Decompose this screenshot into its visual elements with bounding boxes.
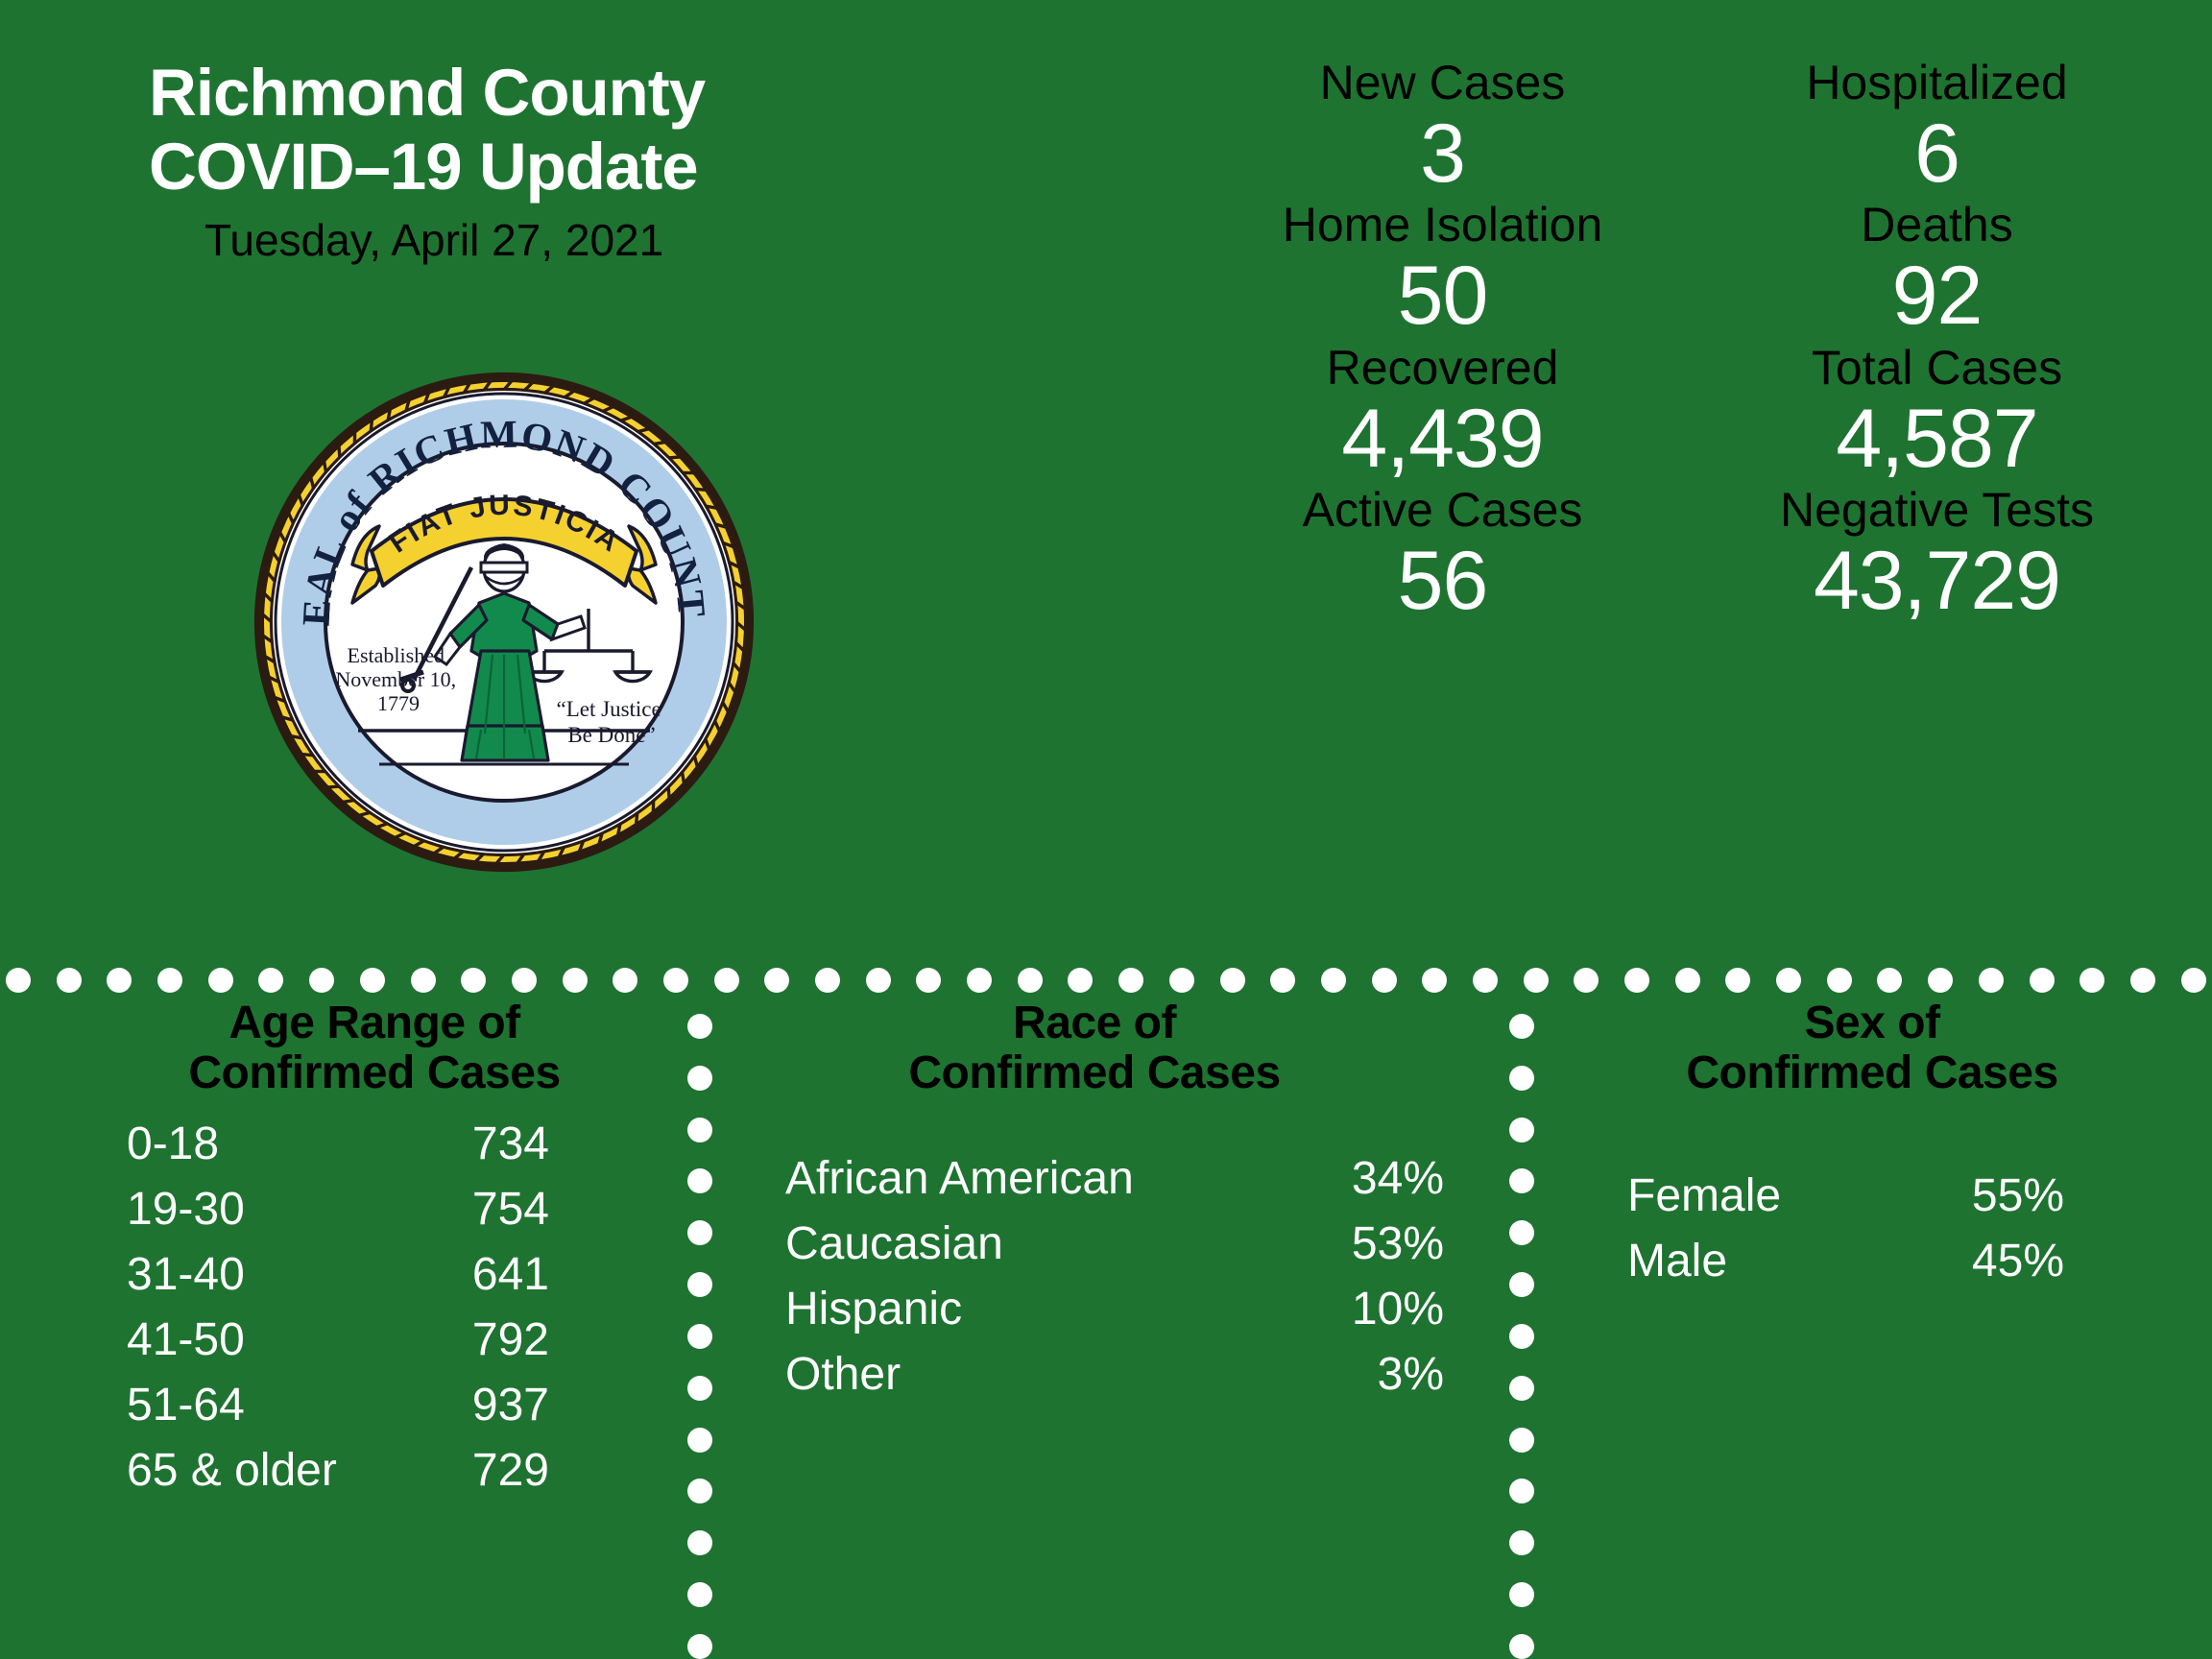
panel-age-range: Age Range of Confirmed Cases 0-1873419-3…	[106, 998, 643, 1504]
divider-dot	[563, 968, 588, 993]
panel-age-title: Age Range of Confirmed Cases	[106, 998, 643, 1098]
row-value: 34%	[1310, 1146, 1444, 1212]
stat-label: Deaths	[1690, 200, 2184, 250]
stat-label: Active Cases	[1195, 485, 1690, 535]
title-block: Richmond County COVID–19 Update Tuesday,…	[149, 56, 898, 264]
stat-value: 4,439	[1195, 393, 1690, 485]
table-row: Male45%	[1627, 1229, 2064, 1294]
row-label: 65 & older	[127, 1438, 405, 1503]
breakdown-section: Age Range of Confirmed Cases 0-1873419-3…	[0, 998, 2212, 1659]
divider-dot	[663, 968, 688, 993]
row-value: 641	[405, 1242, 549, 1308]
row-label: 51-64	[127, 1373, 405, 1438]
divider-dot	[57, 968, 82, 993]
divider-dot	[1169, 968, 1194, 993]
report-date: Tuesday, April 27, 2021	[204, 216, 898, 265]
row-label: African American	[785, 1146, 1310, 1212]
divider-dot	[714, 968, 739, 993]
row-label: Female	[1627, 1164, 1920, 1229]
panel-race-rows: African American34%Caucasian53%Hispanic1…	[730, 1146, 1459, 1408]
table-row: Hispanic10%	[785, 1277, 1444, 1342]
divider-dot	[1827, 968, 1852, 993]
table-row: 65 & older729	[127, 1438, 643, 1503]
stat-value: 92	[1690, 250, 2184, 342]
stat-value: 3	[1195, 108, 1690, 200]
divider-dot	[1979, 968, 2004, 993]
divider-dot	[1776, 968, 1801, 993]
divider-dot	[6, 968, 31, 993]
stat-label: Hospitalized	[1690, 58, 2184, 108]
row-label: Male	[1627, 1229, 1920, 1294]
divider-dot	[1877, 968, 1902, 993]
divider-dot	[157, 968, 182, 993]
stat-label: New Cases	[1195, 58, 1690, 108]
stat-cell: Negative Tests43,729	[1690, 485, 2184, 627]
panel-sex-title: Sex of Confirmed Cases	[1555, 998, 2189, 1098]
divider-dot	[258, 968, 283, 993]
table-row: Other3%	[785, 1342, 1444, 1407]
row-label: Other	[785, 1342, 1310, 1407]
summary-stats-grid: New Cases3Hospitalized6Home Isolation50D…	[1195, 58, 2184, 627]
divider-dot	[764, 968, 789, 993]
stat-value: 6	[1690, 108, 2184, 200]
divider-dot	[208, 968, 233, 993]
stat-value: 56	[1195, 535, 1690, 627]
stat-cell: Home Isolation50	[1195, 200, 1690, 342]
panel-sex-rows: Female55%Male45%	[1555, 1164, 2189, 1294]
panel-sex: Sex of Confirmed Cases Female55%Male45%	[1555, 998, 2189, 1294]
stat-cell: Active Cases56	[1195, 485, 1690, 627]
table-row: 41-50792	[127, 1308, 643, 1373]
divider-dot	[916, 968, 941, 993]
divider-dot	[360, 968, 385, 993]
divider-dot	[1372, 968, 1397, 993]
row-label: 31-40	[127, 1242, 405, 1308]
table-row: 19-30754	[127, 1177, 643, 1242]
row-value: 3%	[1310, 1342, 1444, 1407]
stat-value: 50	[1195, 250, 1690, 342]
divider-dot	[1321, 968, 1346, 993]
richmond-county-seal: SEAL of RICHMOND COUNTY NORTH CAROLINA F…	[245, 363, 763, 881]
divider-dot	[309, 968, 334, 993]
table-row: 0-18734	[127, 1112, 643, 1177]
row-label: Caucasian	[785, 1212, 1310, 1277]
divider-dot	[1068, 968, 1093, 993]
divider-dot	[2181, 968, 2206, 993]
divider-dot	[1118, 968, 1143, 993]
row-label: Hispanic	[785, 1277, 1310, 1342]
divider-dot	[613, 968, 637, 993]
stat-value: 4,587	[1690, 393, 2184, 485]
table-row: African American34%	[785, 1146, 1444, 1212]
divider-dot	[107, 968, 132, 993]
stat-cell: Deaths92	[1690, 200, 2184, 342]
stat-cell: Total Cases4,587	[1690, 343, 2184, 485]
row-value: 729	[405, 1438, 549, 1503]
page-title: Richmond County COVID–19 Update	[149, 56, 898, 204]
divider-dot	[967, 968, 992, 993]
table-row: Female55%	[1627, 1164, 2064, 1229]
row-value: 937	[405, 1373, 549, 1438]
divider-dot	[2130, 968, 2155, 993]
divider-dot	[1270, 968, 1295, 993]
stat-label: Recovered	[1195, 343, 1690, 393]
stat-value: 43,729	[1690, 535, 2184, 627]
row-value: 55%	[1920, 1164, 2064, 1229]
panel-race: Race of Confirmed Cases African American…	[730, 998, 1459, 1407]
panel-age-rows: 0-1873419-3075431-4064141-5079251-649376…	[106, 1112, 643, 1504]
divider-dot	[1574, 968, 1599, 993]
divider-dot	[1524, 968, 1549, 993]
divider-dot	[411, 968, 436, 993]
table-row: 31-40641	[127, 1242, 643, 1308]
row-label: 19-30	[127, 1177, 405, 1242]
row-value: 792	[405, 1308, 549, 1373]
panel-race-title: Race of Confirmed Cases	[730, 998, 1459, 1098]
row-value: 53%	[1310, 1212, 1444, 1277]
divider-dot	[1473, 968, 1498, 993]
divider-dot	[2080, 968, 2104, 993]
divider-dot	[1018, 968, 1043, 993]
row-value: 10%	[1310, 1277, 1444, 1342]
divider-dot	[1220, 968, 1245, 993]
divider-dot	[512, 968, 537, 993]
divider-dot	[461, 968, 486, 993]
stat-label: Home Isolation	[1195, 200, 1690, 250]
divider-dot	[1675, 968, 1700, 993]
divider-dot	[1422, 968, 1447, 993]
stat-cell: New Cases3	[1195, 58, 1690, 200]
stat-cell: Recovered4,439	[1195, 343, 1690, 485]
divider-dot	[2030, 968, 2055, 993]
stat-cell: Hospitalized6	[1690, 58, 2184, 200]
row-value: 754	[405, 1177, 549, 1242]
row-label: 41-50	[127, 1308, 405, 1373]
table-row: Caucasian53%	[785, 1212, 1444, 1277]
row-value: 734	[405, 1112, 549, 1177]
stat-label: Negative Tests	[1690, 485, 2184, 535]
row-value: 45%	[1920, 1229, 2064, 1294]
table-row: 51-64937	[127, 1373, 643, 1438]
divider-dot	[1928, 968, 1953, 993]
divider-horizontal-dotted	[0, 964, 2212, 997]
row-label: 0-18	[127, 1112, 405, 1177]
divider-dot	[1624, 968, 1649, 993]
header-section: Richmond County COVID–19 Update Tuesday,…	[0, 0, 2212, 970]
divider-dot	[866, 968, 891, 993]
stat-label: Total Cases	[1690, 343, 2184, 393]
divider-dot	[1725, 968, 1750, 993]
divider-dot	[815, 968, 840, 993]
